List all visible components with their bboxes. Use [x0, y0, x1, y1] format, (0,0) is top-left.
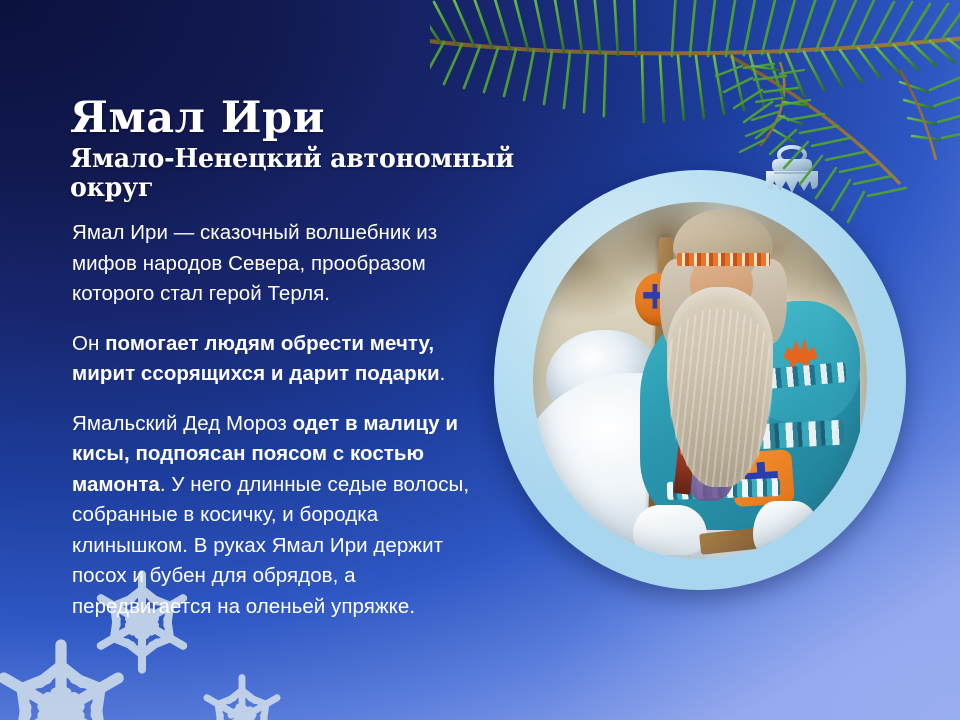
- page-subtitle: Ямало-Ненецкий автономный округ: [70, 145, 526, 203]
- paragraph: Он помогает людям обрести мечту, мирит с…: [72, 329, 492, 390]
- body-text: Ямал Ири — сказочный волшебник из мифов …: [72, 218, 492, 622]
- paragraph: Ямал Ири — сказочный волшебник из мифов …: [72, 218, 492, 310]
- ornament-photo-ball: [494, 170, 906, 590]
- yamal-iri-photo: [533, 202, 867, 559]
- paragraph: Ямальский Дед Мороз одет в малицу и кисы…: [72, 409, 492, 623]
- page-title: Ямал Ири: [70, 96, 540, 141]
- snowflake-icon: [0, 636, 136, 720]
- slide-canvas: Ямал Ири Ямало-Ненецкий автономный округ…: [0, 0, 960, 720]
- ornament-cap-icon: [752, 143, 832, 205]
- title-block: Ямал Ири Ямало-Ненецкий автономный округ: [70, 96, 540, 203]
- snowflake-icon: [196, 672, 288, 720]
